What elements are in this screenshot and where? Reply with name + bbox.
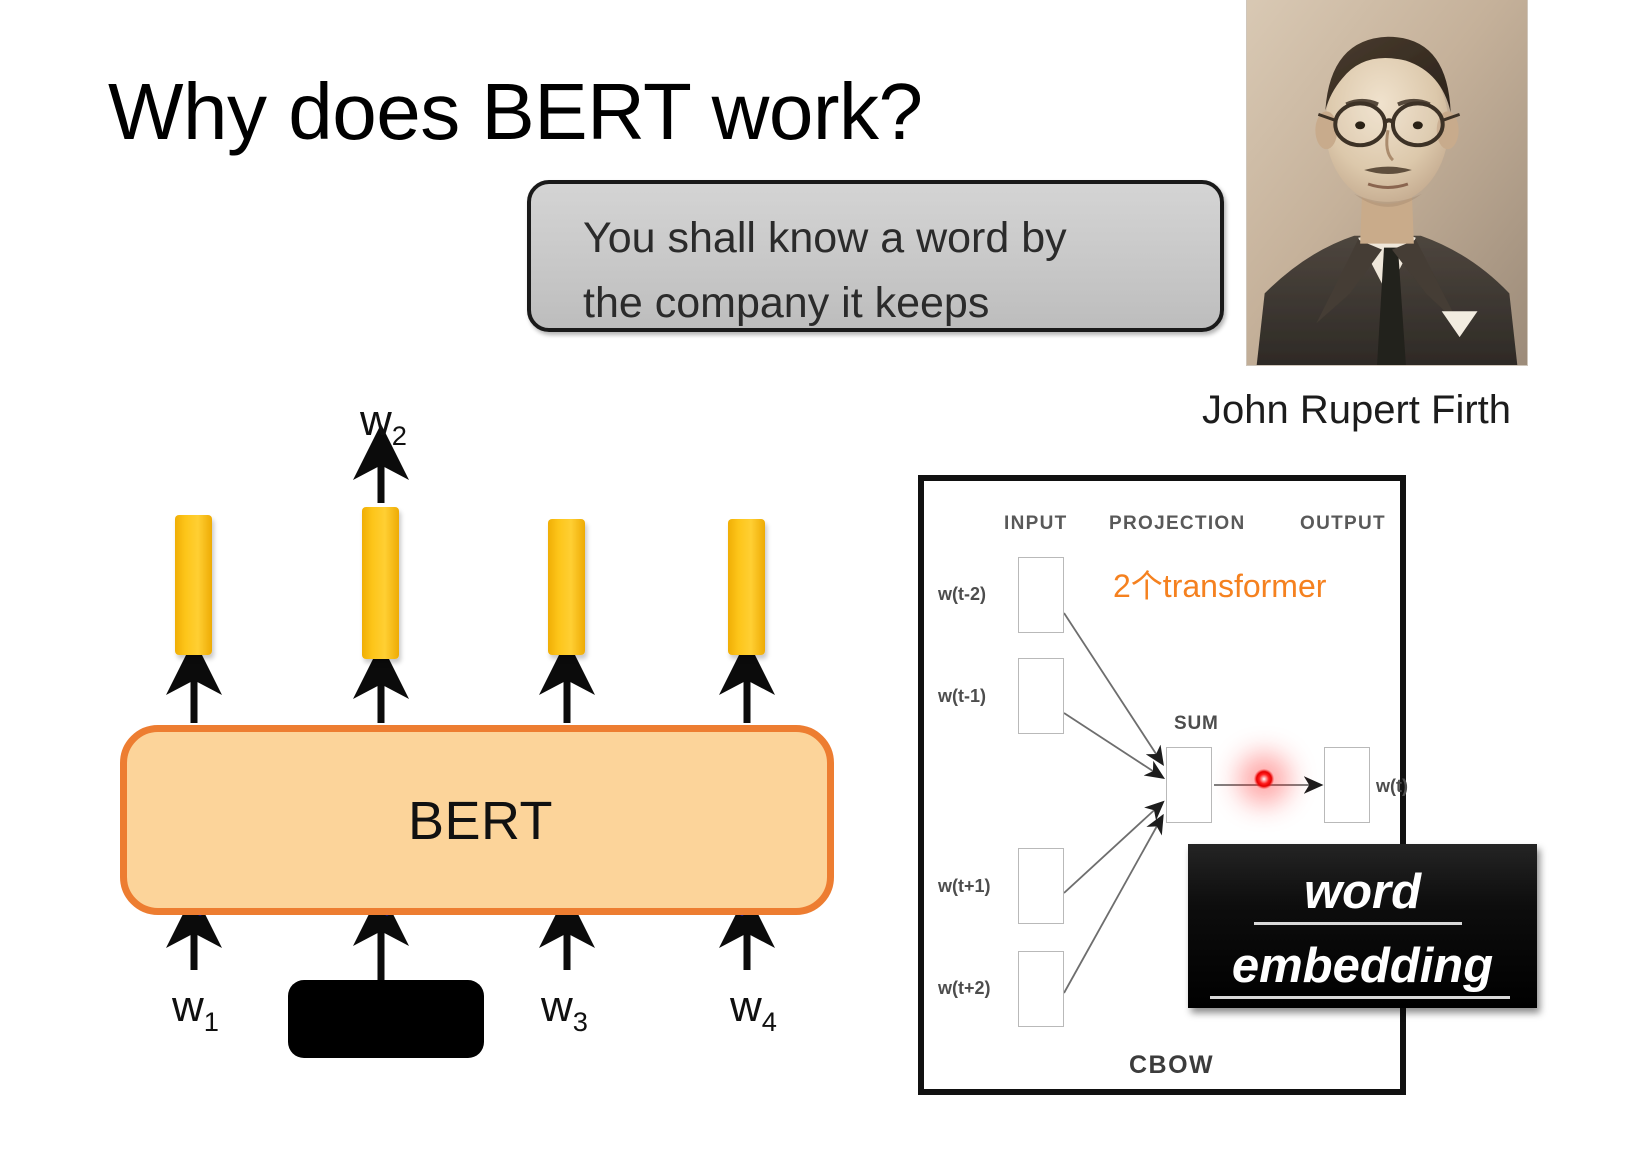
cbow-output-label: w(t) [1376,776,1408,797]
cbow-header-projection: PROJECTION [1109,513,1246,535]
input-token-label-w3: w3 [541,982,588,1038]
cbow-input-label-4: w(t+2) [938,978,991,999]
w3-subscript: 3 [573,1006,588,1037]
word-underline-1 [1254,922,1462,925]
quote-text: You shall know a word by the company it … [583,206,1203,335]
cbow-sum-node [1166,747,1212,823]
word-underline-2 [1210,996,1510,999]
cbow-caption: CBOW [1129,1051,1214,1080]
cbow-input-label-1: w(t-2) [938,584,986,605]
cbow-header-output: OUTPUT [1300,513,1386,535]
w1-subscript: 1 [204,1006,219,1037]
bert-model-label: BERT [408,790,553,852]
red-glow-highlight-icon [1254,769,1274,789]
output-embedding-bar-4 [728,519,765,655]
portrait-photo [1246,0,1528,366]
output-token-label-w2: w2 [360,396,407,452]
transformer-annotation: 2个transformer [1113,561,1326,607]
word-embedding-callout: word embedding [1188,844,1537,1008]
w2-subscript: 2 [392,420,407,451]
cbow-input-node-1 [1018,557,1064,633]
w1-base: w [172,982,204,1031]
w4-base: w [730,982,762,1031]
page-title: Why does BERT work? [108,72,923,152]
cbow-input-label-3: w(t+1) [938,876,991,897]
portrait-caption: John Rupert Firth [1202,388,1511,433]
cbow-output-node [1324,747,1370,823]
cbow-input-label-2: w(t-1) [938,686,986,707]
cbow-sum-label: SUM [1174,713,1219,735]
quote-speech-bubble: You shall know a word by the company it … [527,180,1224,332]
cbow-input-node-2 [1018,658,1064,734]
cbow-input-node-4 [1018,951,1064,1027]
w3-base: w [541,982,573,1031]
output-embedding-bar-2 [362,507,399,659]
output-embedding-bar-1 [175,515,212,655]
cbow-header-input: INPUT [1004,513,1068,535]
bert-diagram: BERT w2 w1 w3 w4 [90,390,890,1090]
slide-canvas: Why does BERT work? You shall know a wor… [0,0,1627,1169]
w2-base: w [360,396,392,445]
output-embedding-bar-3 [548,519,585,655]
input-token-label-w4: w4 [730,982,777,1038]
word-embedding-label: word embedding [1188,844,1537,1008]
masked-token-black-box [288,980,484,1058]
input-token-label-w1: w1 [172,982,219,1038]
w4-subscript: 4 [762,1006,777,1037]
cbow-input-node-3 [1018,848,1064,924]
